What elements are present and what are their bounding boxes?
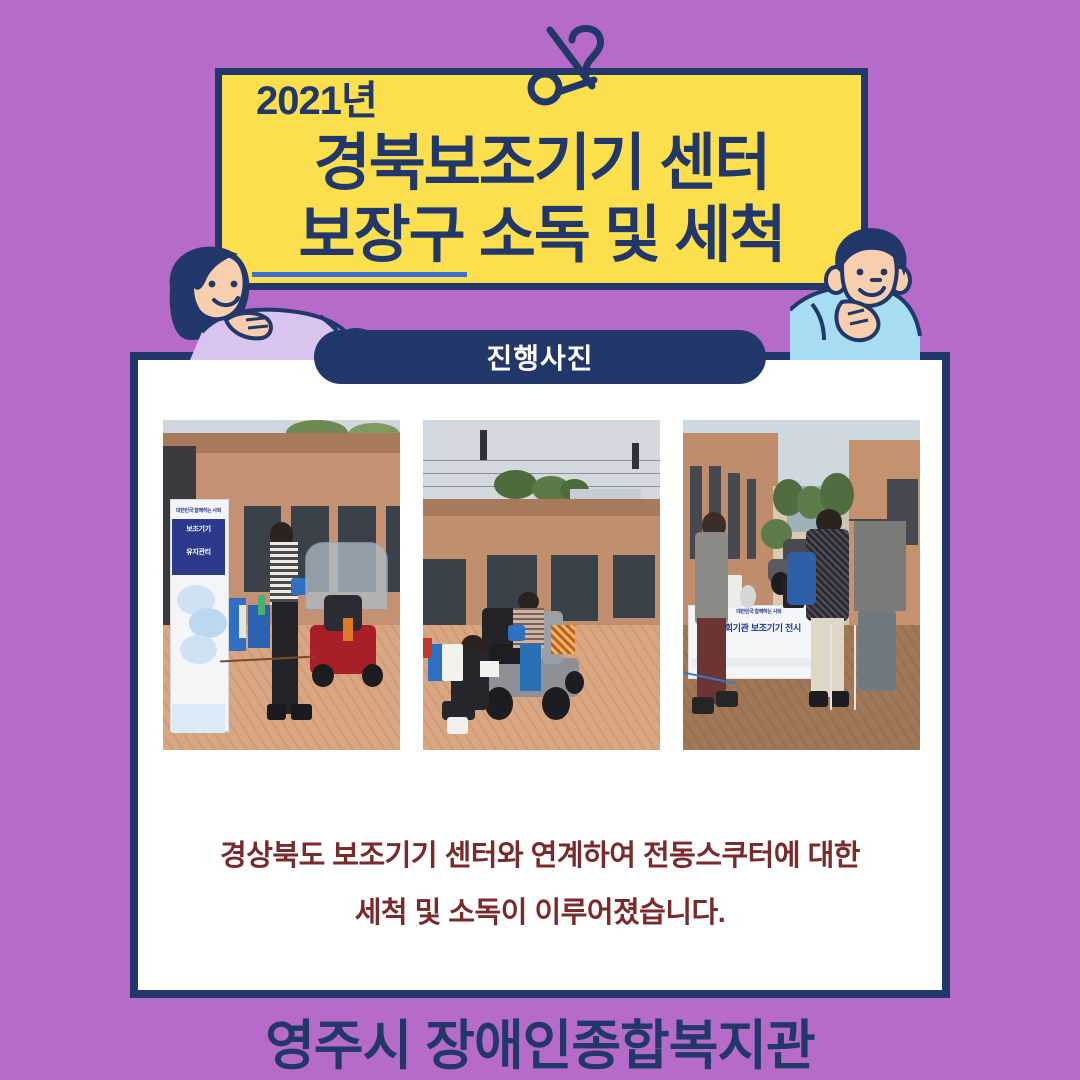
photo-1: 대한민국 함께하는 사회 보조기기 유지관리	[163, 420, 400, 750]
photo-1-banner-line-1: 보조기기	[172, 524, 224, 534]
poster-root: 2021년 경북보조기기 센터 보장구 소독 및 세척	[0, 0, 1080, 1080]
title-year: 2021년	[256, 81, 377, 121]
section-tab-label: 진행사진	[486, 337, 593, 377]
caption-line-1: 경상북도 보조기기 센터와 연계하여 전동스쿠터에 대한	[150, 828, 930, 885]
photo-gallery: 대한민국 함께하는 사회 보조기기 유지관리	[163, 420, 920, 750]
caption-line-2: 세척 및 소독이 이루어졌습니다.	[150, 885, 930, 942]
male-character	[790, 218, 1025, 360]
photo-2	[423, 420, 660, 750]
photo-3: 대한민국 함께하는 사회 사회기관 보조기기 전시	[683, 420, 920, 750]
section-tab: 진행사진	[314, 330, 766, 384]
footer-organization: 영주시 장애인종합복지관	[265, 1001, 814, 1080]
footer: 영주시 장애인종합복지관	[0, 1000, 1080, 1080]
photo-1-banner-top: 대한민국 함께하는 사회	[172, 507, 224, 514]
photo-1-banner-line-2: 유지관리	[172, 547, 224, 557]
safety-pin-icon	[520, 18, 640, 108]
caption-block: 경상북도 보조기기 센터와 연계하여 전동스쿠터에 대한 세척 및 소독이 이루…	[150, 828, 930, 941]
title-line-1: 경북보조기기 센터	[222, 133, 861, 195]
